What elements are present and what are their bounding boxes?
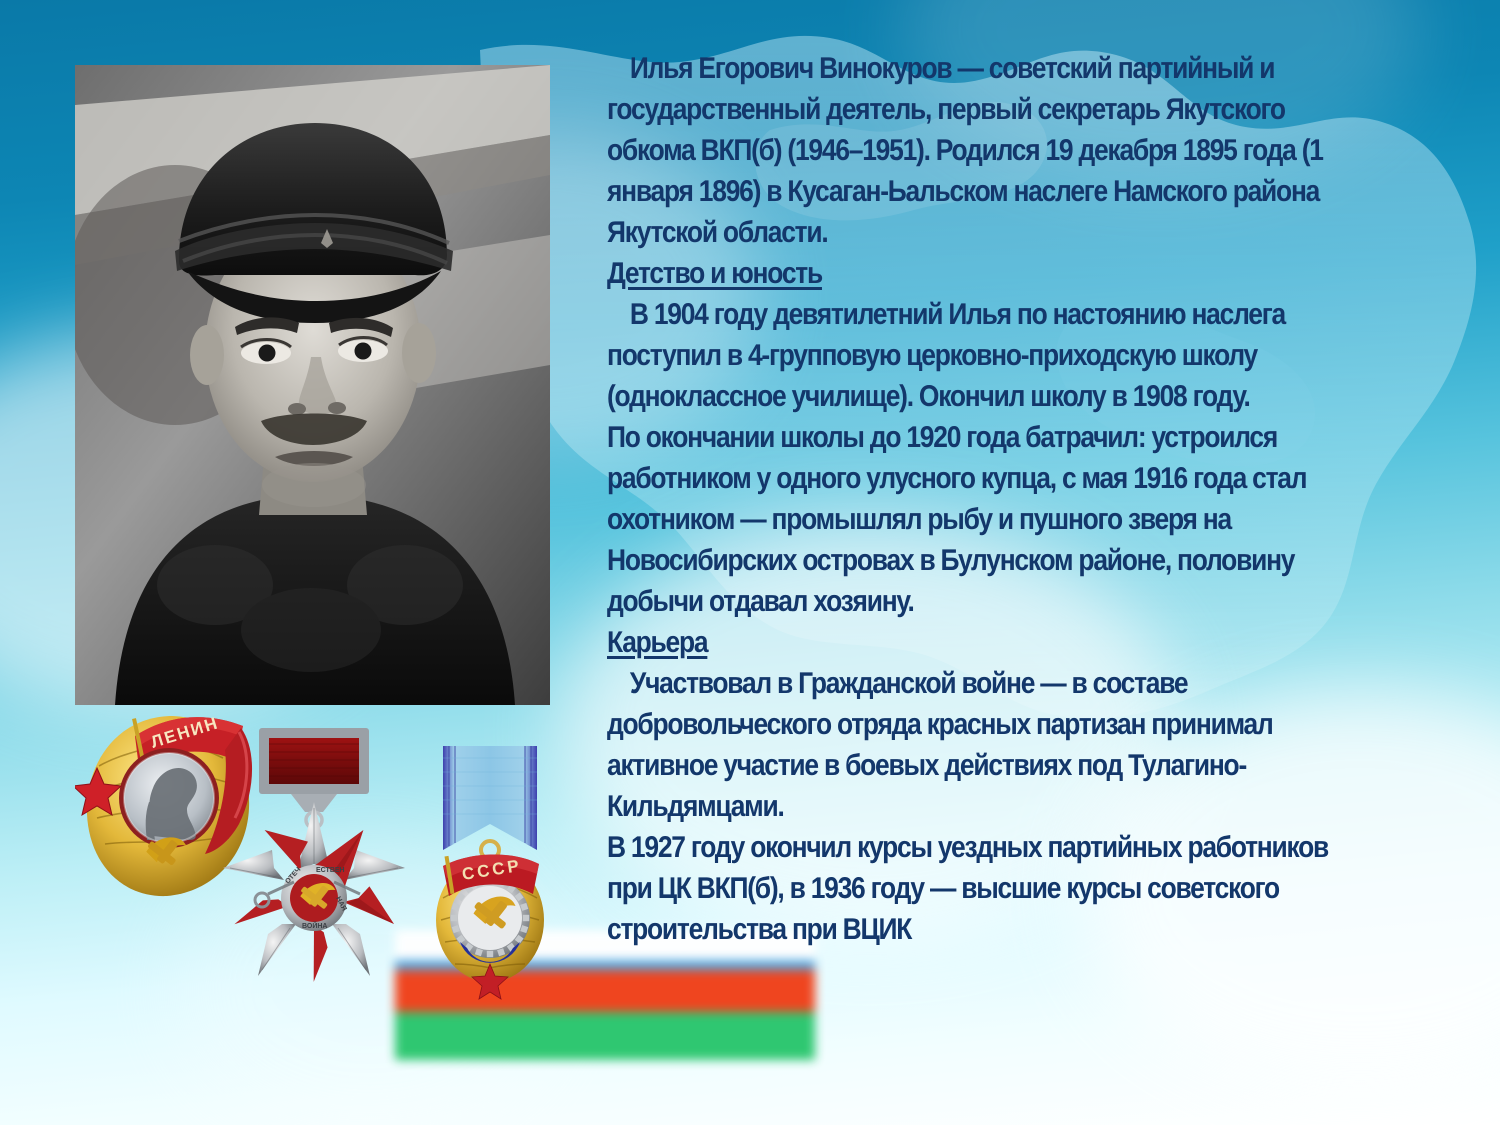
paragraph-work: По окончании школы до 1920 года батрачил… <box>607 417 1371 622</box>
paragraph-courses: В 1927 году окончил курсы уездных партий… <box>607 827 1371 950</box>
order-of-red-banner-of-labour: СССР <box>436 746 544 999</box>
svg-text:ЕСТВЕН: ЕСТВЕН <box>316 867 345 874</box>
section-heading-childhood: Детство и юность <box>607 253 1371 294</box>
svg-text:ВОЙНА: ВОЙНА <box>302 921 327 930</box>
biography-text: Илья Егорович Винокуров — советский парт… <box>607 48 1371 950</box>
slide-root: ЛЕНИН <box>0 0 1500 1125</box>
section-heading-career: Карьера <box>607 622 1371 663</box>
paragraph-school: В 1904 году девятилетний Илья по настоян… <box>607 294 1371 417</box>
order-of-lenin: ЛЕНИН <box>75 713 252 896</box>
portrait-photo <box>75 65 550 705</box>
paragraph-intro: Илья Егорович Винокуров — советский парт… <box>607 48 1371 253</box>
medals-group: ЛЕНИН <box>75 700 595 1040</box>
paragraph-civil-war: Участвовал в Гражданской войне — в соста… <box>607 663 1371 827</box>
